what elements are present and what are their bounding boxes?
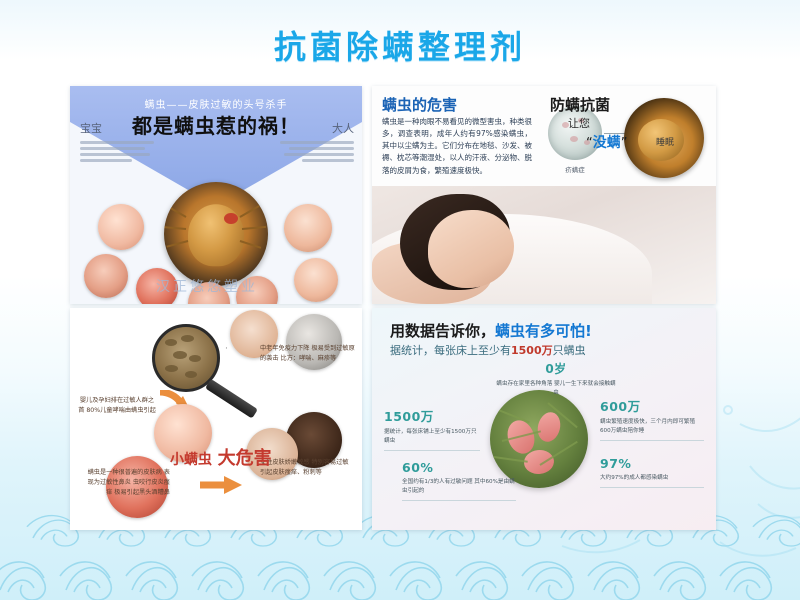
panel2-slogan-line2: 让您 — [568, 115, 590, 131]
panel3-text-right-bottom: 女性皮肤娇嫩敏感 特别容易过敏 引起皮肤瘙痒、粉刺等 — [260, 458, 356, 478]
arrow-right-icon — [198, 476, 242, 494]
photo-baby-face — [98, 204, 144, 250]
panel4-subline-number: 1500万 — [511, 344, 553, 357]
stat-60-percent-caption: 全国约有1/3的人有过敏问题 其中60%是由螨虫引起的 — [402, 478, 516, 496]
stat-600wan-number: 600万 — [600, 396, 704, 415]
page-title: 抗菌除螨整理剂 — [0, 22, 800, 68]
magnifier-handle-icon — [205, 379, 258, 419]
panel4-headline: 用数据告诉你，螨虫有多可怕! — [390, 320, 592, 341]
stat-60-percent: 60% 全国约有1/3的人有过敏问题 其中60%是由螨虫引起的 — [402, 460, 516, 501]
panel2-slogan-line1: 防螨抗菌 — [550, 94, 610, 115]
stat-1500wan: 1500万 据统计，每张床铺上至少有1500万只螨虫 — [384, 406, 480, 451]
panel-mite-statistics: 用数据告诉你，螨虫有多可怕! 据统计，每张床上至少有1500万只螨虫 0岁 螨虫… — [372, 308, 716, 530]
panel3-text-bottom: 螨虫是一种很普遍的皮肤病 表现为过敏性鼻炎 虫咬行皮炎瘙痒 极易引起黑头酒糟鼻 — [84, 468, 170, 499]
stat-97-percent: 97% 大约97%的成人都感染螨虫 — [600, 456, 704, 488]
panel4-headline-plain: 用数据告诉你， — [390, 322, 495, 340]
stat-age0-caption: 螨虫存在家里各种角落 婴儿一生下来就会接触螨虫 — [496, 380, 616, 398]
panel1-watermark: 汉正悠悠塑业 — [156, 276, 258, 296]
stat-97-percent-caption: 大约97%的成人都感染螨虫 — [600, 474, 704, 483]
panel4-subline-pre: 据统计，每张床上至少有 — [390, 344, 511, 357]
sleeping-woman-photo — [372, 186, 716, 304]
photo-adult-nose — [294, 258, 338, 302]
panel2-circle-caption: 疥螨症 — [548, 164, 602, 174]
panel3-title: 小螨虫 大危害 — [170, 444, 272, 470]
panel2-body-text: 螨虫是一种肉眼不易看见的微型害虫，种类很多，调查表明，成年人约有97%感染螨虫，… — [382, 116, 532, 177]
stat-600wan: 600万 螨虫繁殖速度极快，三个月内即可繁殖600万螨虫陪你睡 — [600, 396, 704, 441]
stat-1500wan-number: 1500万 — [384, 406, 480, 425]
stat-age0: 0岁 螨虫存在家里各种角落 婴儿一生下来就会接触螨虫 — [496, 360, 616, 398]
panel3-text-left: 婴儿及孕妇排在过敏人群之首 80%儿童哮喘由螨虫引起 — [78, 396, 156, 416]
panel-mite-big-harm: · · · · 婴儿及孕妇排在过敏人群之首 80%儿童哮喘由螨虫引起 中老年免疫… — [70, 308, 362, 530]
mite-closeup-icon — [164, 182, 268, 286]
panel1-right-block: 大人 — [280, 120, 354, 165]
panel1-headline: 螨虫——皮肤过敏的头号杀手 — [70, 96, 362, 111]
panel2-slogan-line3: 睡眠 — [656, 135, 674, 148]
panel1-left-label: 宝宝 — [80, 120, 154, 136]
panel2-slogan-highlight-wrap: “没螨” — [586, 132, 628, 152]
panel2-slogan-highlight: 没螨 — [593, 135, 621, 151]
panel2-title: 螨虫的危害 — [382, 94, 457, 115]
stat-600wan-caption: 螨虫繁殖速度极快，三个月内即可繁殖600万螨虫陪你睡 — [600, 418, 704, 436]
photo-skin-rash-1 — [84, 254, 128, 298]
stat-age0-number: 0岁 — [496, 360, 616, 377]
panel-mite-allergy: 螨虫——皮肤过敏的头号杀手 都是螨虫惹的祸！ 宝宝 大人 汉正悠悠塑业 — [70, 86, 362, 304]
panel3-title-big: 大危害 — [218, 448, 272, 469]
panel3-text-right-top: 中老年免疫力下降 极易受到过敏原的袭击 比方：哮喘、麻疹等 — [260, 344, 356, 364]
panel1-left-block: 宝宝 — [80, 120, 154, 165]
quote-open: “ — [586, 136, 593, 151]
panel3-title-small: 小螨虫 — [170, 452, 212, 468]
photo-adult-face — [284, 204, 332, 252]
panel4-headline-accent: 螨虫有多可怕! — [495, 322, 592, 340]
quote-close: ” — [621, 136, 628, 151]
panel1-right-label: 大人 — [280, 120, 354, 136]
panel-mite-harm: 螨虫的危害 螨虫是一种肉眼不易看见的微型害虫，种类很多，调查表明，成年人约有97… — [372, 86, 716, 304]
stat-60-percent-number: 60% — [402, 460, 516, 475]
panel4-subline-post: 只螨虫 — [553, 344, 586, 357]
panel4-subline: 据统计，每张床上至少有1500万只螨虫 — [390, 342, 586, 358]
stat-1500wan-caption: 据统计，每张床铺上至少有1500万只螨虫 — [384, 428, 480, 446]
stat-97-percent-number: 97% — [600, 456, 704, 471]
